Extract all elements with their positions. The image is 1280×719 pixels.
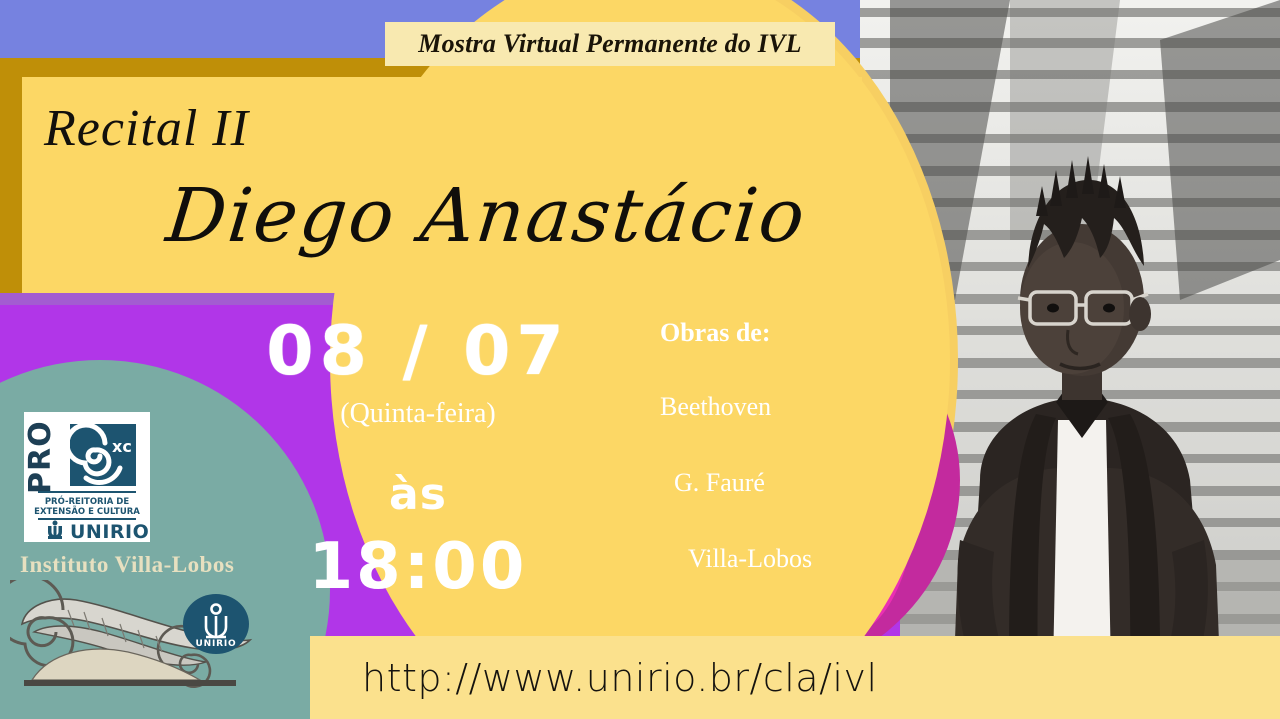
svg-text:EXTENSÃO E CULTURA: EXTENSÃO E CULTURA bbox=[34, 506, 140, 517]
proexc-logo: PRO xc PRÓ-REITORIA DE EXTENSÃO E CULTUR… bbox=[24, 412, 150, 542]
title-panel: Recital II Diego Anastácio bbox=[22, 77, 862, 293]
website-bar[interactable]: http://www.unirio.br/cla/ivl bbox=[310, 636, 1280, 719]
event-poster: Mostra Virtual Permanente do IVL Recital… bbox=[0, 0, 1280, 719]
svg-text:xc: xc bbox=[112, 437, 132, 456]
left-gold-band bbox=[0, 58, 22, 298]
event-weekday: (Quinta-feira) bbox=[218, 392, 618, 437]
ivl-logo-title: Instituto Villa-Lobos bbox=[20, 552, 285, 578]
works-list: Obras de: Beethoven G. Fauré Villa-Lobos bbox=[648, 318, 878, 620]
time-preposition: às bbox=[218, 473, 618, 517]
exhibition-banner: Mostra Virtual Permanente do IVL bbox=[385, 22, 835, 66]
works-heading: Obras de: bbox=[660, 318, 878, 348]
list-item: Beethoven bbox=[660, 392, 878, 422]
page-title: Recital II bbox=[44, 99, 249, 158]
exhibition-banner-label: Mostra Virtual Permanente do IVL bbox=[418, 29, 801, 59]
event-date: 08 / 07 bbox=[218, 318, 618, 386]
svg-text:PRO: PRO bbox=[24, 420, 58, 494]
artist-name: Diego Anastácio bbox=[162, 173, 810, 259]
list-item: G. Fauré bbox=[674, 468, 878, 498]
svg-text:UNIRIO: UNIRIO bbox=[70, 521, 149, 542]
svg-text:UNIRIO: UNIRIO bbox=[196, 639, 237, 649]
website-url[interactable]: http://www.unirio.br/cla/ivl bbox=[362, 656, 878, 700]
list-item: Villa-Lobos bbox=[688, 544, 878, 574]
svg-text:PRÓ-REITORIA DE: PRÓ-REITORIA DE bbox=[45, 495, 130, 507]
ivl-logo: Instituto Villa-Lobos bbox=[10, 552, 285, 692]
